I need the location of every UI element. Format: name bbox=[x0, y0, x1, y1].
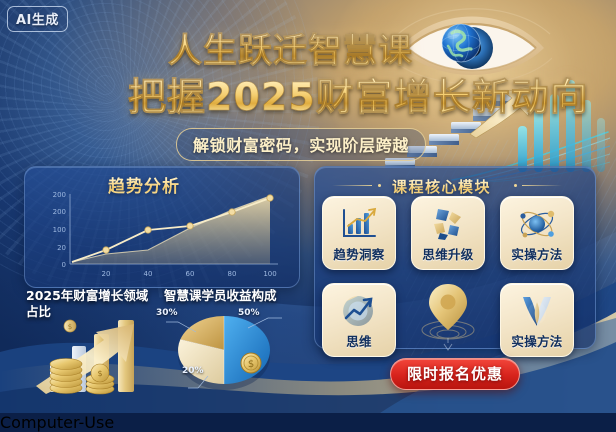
svg-text:$: $ bbox=[97, 369, 102, 378]
title-dash-left bbox=[332, 185, 372, 186]
svg-text:100: 100 bbox=[263, 270, 276, 278]
module-label: 实操方法 bbox=[511, 244, 562, 263]
svg-text:80: 80 bbox=[228, 270, 237, 278]
ai-generated-badge: AI生成 bbox=[7, 6, 68, 32]
title-dash-right bbox=[522, 185, 562, 186]
coin-stack-icon: $ bbox=[40, 340, 130, 395]
svg-text:200: 200 bbox=[53, 191, 66, 199]
earnings-pie-chart bbox=[160, 296, 290, 398]
svg-text:60: 60 bbox=[186, 270, 195, 278]
title-dot-right bbox=[514, 184, 517, 187]
svg-text:100: 100 bbox=[53, 226, 66, 234]
module-label: 实操方法 bbox=[511, 331, 562, 350]
module-label: 思维 bbox=[346, 331, 372, 350]
module-label: 趋势洞察 bbox=[333, 244, 384, 263]
promo-poster: AI生成 bbox=[0, 0, 616, 413]
abstract-shapes-icon bbox=[428, 206, 468, 242]
module-tile-mindset[interactable]: 思维 bbox=[322, 283, 396, 357]
hero-subtitle: 解锁财富密码，实现阶层跨越 bbox=[176, 128, 426, 161]
svg-text:20: 20 bbox=[102, 270, 111, 278]
svg-text:20: 20 bbox=[57, 244, 66, 252]
module-tile-mindset-upgrade[interactable]: 思维升级 bbox=[411, 196, 485, 270]
trend-analysis-title: 趋势分析 bbox=[108, 172, 180, 197]
pie-label-50: 50% bbox=[238, 308, 260, 318]
coin-icon: $ bbox=[240, 352, 262, 374]
pie-chart-caption: 智慧课学员收益构成 bbox=[164, 288, 304, 304]
svg-text:200: 200 bbox=[53, 208, 66, 216]
module-tile-practical-method-2[interactable]: 实操方法 bbox=[500, 283, 574, 357]
svg-text:40: 40 bbox=[144, 270, 153, 278]
atom-network-icon bbox=[517, 206, 557, 242]
wealth-growth-caption: 2025年财富增长领域占比 bbox=[26, 288, 154, 319]
svg-text:$: $ bbox=[248, 359, 254, 370]
title-dot-left bbox=[378, 184, 381, 187]
hero-title-line1: 人生跃迁智慧课 bbox=[168, 23, 413, 72]
diamond-wings-icon bbox=[517, 293, 557, 329]
module-tile-practical-method-1[interactable]: 实操方法 bbox=[500, 196, 574, 270]
module-tile-trend-insight[interactable]: 趋势洞察 bbox=[322, 196, 396, 270]
core-modules-title: 课程核心模块 bbox=[392, 176, 491, 197]
pie-label-20: 20% bbox=[182, 366, 204, 376]
pie-label-30: 30% bbox=[156, 308, 178, 318]
svg-text:0: 0 bbox=[62, 261, 66, 269]
cta-button[interactable]: 限时报名优惠 bbox=[390, 358, 520, 390]
svg-text:$: $ bbox=[68, 323, 72, 331]
location-pin-icon bbox=[418, 280, 478, 356]
hero-title-line2: 把握2025财富增长新动向 bbox=[128, 66, 589, 121]
bar-chart-icon bbox=[339, 206, 379, 242]
trend-line-chart: 200 200 100 20 0 20 40 60 80 100 bbox=[38, 188, 288, 282]
trend-arrow-circle-icon bbox=[339, 293, 379, 329]
globe-icon bbox=[440, 22, 482, 64]
module-label: 思维升级 bbox=[422, 244, 473, 263]
